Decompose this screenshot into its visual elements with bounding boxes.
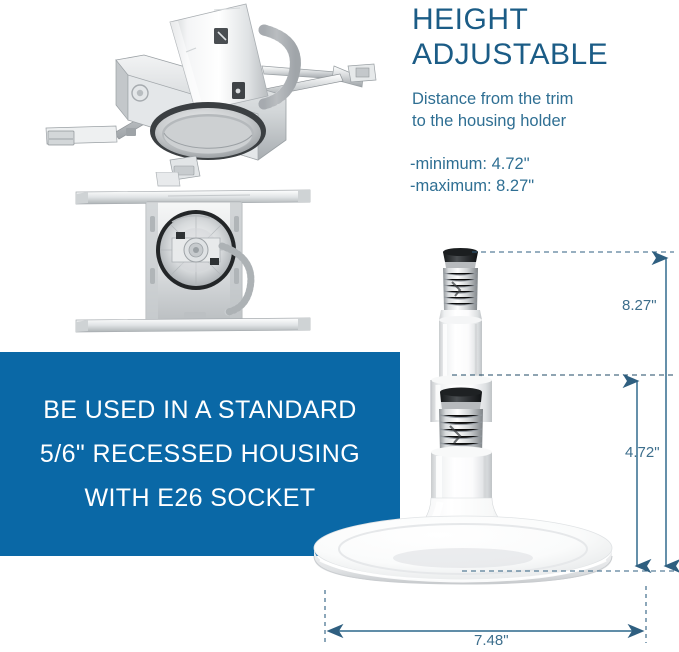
headline-line-1: HEIGHT: [412, 3, 528, 36]
subtitle-text: Distance from the trim to the housing ho…: [412, 88, 674, 132]
infographic-canvas: BE USED IN A STANDARD 5/6" RECESSED HOUS…: [0, 0, 679, 652]
page-title: HEIGHT ADJUSTABLE: [412, 2, 674, 72]
product-photo-e26-adapter: [300, 240, 630, 585]
subtitle-line-1: Distance from the trim: [412, 90, 573, 108]
spec-minimum: -minimum: 4.72": [410, 155, 530, 173]
subtitle-line-2: to the housing holder: [412, 112, 566, 130]
spec-list: -minimum: 4.72" -maximum: 8.27": [410, 153, 672, 197]
dimension-label-width: 7.48": [474, 632, 509, 649]
headline-line-2: ADJUSTABLE: [412, 37, 674, 72]
recessed-housing-angle-photo: [18, 0, 408, 185]
dimension-label-height-min: 4.72": [625, 444, 660, 461]
spec-maximum: -maximum: 8.27": [410, 177, 534, 195]
dimension-label-height-max: 8.27": [622, 297, 657, 314]
